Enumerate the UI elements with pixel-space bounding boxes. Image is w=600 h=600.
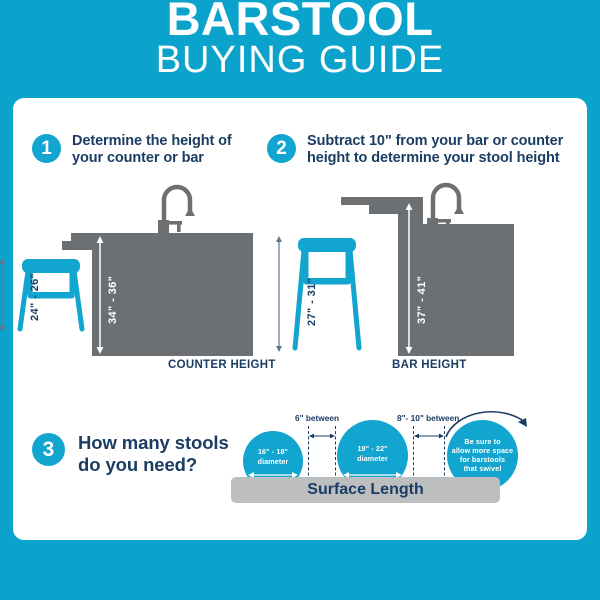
bar-stool-height-label: 27" - 31" <box>306 278 318 326</box>
step-2: 2 Subtract 10" from your bar or counter … <box>267 133 572 167</box>
bar-stool <box>295 238 359 348</box>
surface-length-label: Surface Length <box>231 477 500 503</box>
step-2-badge: 2 <box>267 134 296 163</box>
counter-stool-height-label: 24" - 26" <box>29 273 41 321</box>
diagram-counter-height: 24" - 26" 34" - 36" COUNTER HEIGHT <box>30 176 280 366</box>
gap-1-label: 6" between <box>295 413 339 423</box>
counter-stool-height-arrow <box>0 258 5 332</box>
title-sub: BUYING GUIDE <box>0 40 600 80</box>
swivel-note-line-3: for barstools <box>447 455 518 464</box>
counter-body <box>62 233 253 356</box>
counter-height-caption: COUNTER HEIGHT <box>168 359 276 371</box>
diagram-bar-height: 27" - 31" 37" - 41" BAR HEIGHT <box>285 176 585 366</box>
step-1-badge: 1 <box>32 134 61 163</box>
swivel-rotation-arrow <box>437 403 537 443</box>
faucet-icon <box>158 187 195 235</box>
bar-height-illustration <box>285 176 585 366</box>
page-title: BARSTOOL BUYING GUIDE <box>0 0 600 96</box>
bar-height-caption: BAR HEIGHT <box>392 359 467 371</box>
counter-surface-height-label: 34" - 36" <box>107 276 119 324</box>
bar-surface-height-label: 37" - 41" <box>416 276 428 324</box>
counter-height-illustration <box>30 176 280 366</box>
step-1-label: Determine the height of your counter or … <box>72 133 262 167</box>
gap-1-arrow <box>308 430 336 442</box>
surface-length-bar: Surface Length <box>231 477 500 503</box>
infographic-root: BARSTOOL BUYING GUIDE 1 Determine the he… <box>0 0 600 600</box>
step-3: 3 How many stools do you need? <box>32 432 252 476</box>
swivel-note-line-2: allow more space <box>447 446 518 455</box>
step-3-badge: 3 <box>32 433 65 466</box>
step-2-label: Subtract 10" from your bar or counter he… <box>307 133 572 167</box>
step-1: 1 Determine the height of your counter o… <box>32 133 262 167</box>
swivel-note-line-4: that swivel <box>447 464 518 473</box>
title-main: BARSTOOL <box>0 0 600 42</box>
